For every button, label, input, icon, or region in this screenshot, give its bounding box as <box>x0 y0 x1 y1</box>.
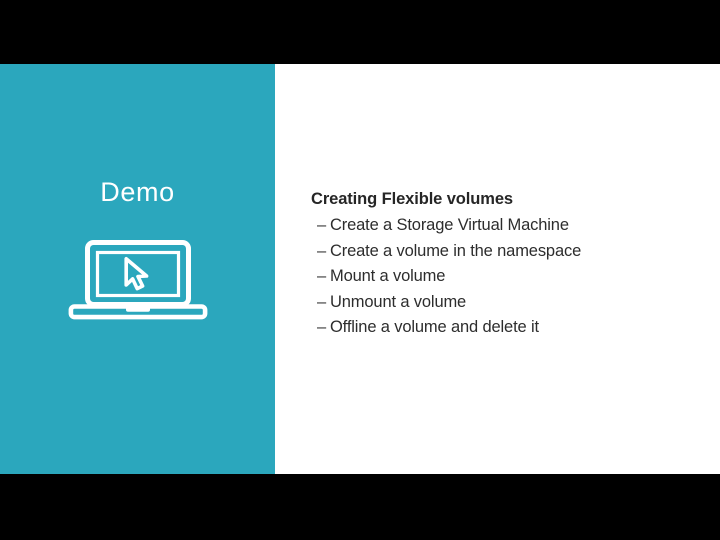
bullet-list: – Create a Storage Virtual Machine – Cre… <box>317 216 581 344</box>
laptop-with-cursor-icon <box>68 238 208 324</box>
list-item: – Unmount a volume <box>317 293 581 319</box>
list-item-label: Offline a volume and delete it <box>330 318 539 337</box>
demo-title: Demo <box>0 179 275 206</box>
demo-panel: Demo <box>0 64 275 474</box>
content-heading: Creating Flexible volumes <box>311 190 513 210</box>
bullet-dash-icon: – <box>317 242 330 261</box>
list-item: – Create a Storage Virtual Machine <box>317 216 581 242</box>
bullet-dash-icon: – <box>317 318 330 337</box>
list-item: – Offline a volume and delete it <box>317 318 581 344</box>
list-item: – Create a volume in the namespace <box>317 242 581 268</box>
bullet-dash-icon: – <box>317 216 330 235</box>
bullet-dash-icon: – <box>317 293 330 312</box>
list-item-label: Mount a volume <box>330 267 445 286</box>
list-item: – Mount a volume <box>317 267 581 293</box>
bullet-dash-icon: – <box>317 267 330 286</box>
content-panel: Creating Flexible volumes – Create a Sto… <box>275 64 720 474</box>
list-item-label: Create a volume in the namespace <box>330 242 581 261</box>
list-item-label: Create a Storage Virtual Machine <box>330 216 569 235</box>
video-player-frame: Demo Creating Flexible volumes <box>0 0 720 540</box>
presentation-slide: Demo Creating Flexible volumes <box>0 64 720 474</box>
list-item-label: Unmount a volume <box>330 293 466 312</box>
